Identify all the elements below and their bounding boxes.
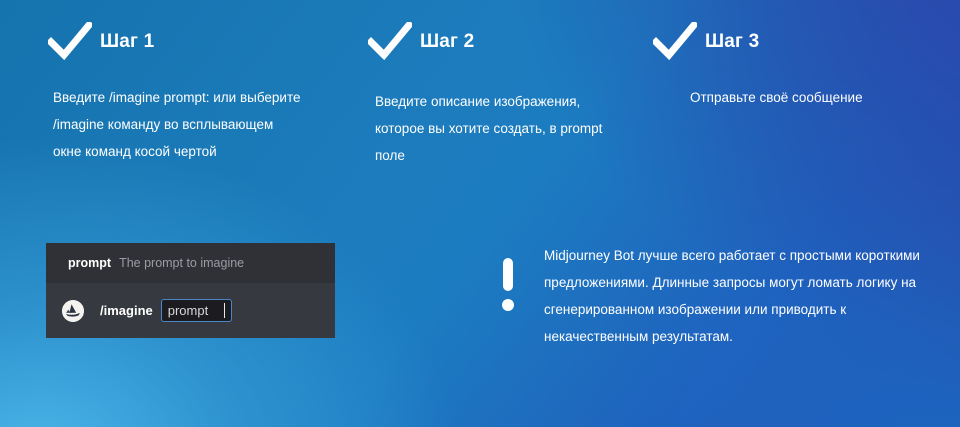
step-1-header: Шаг 1	[48, 22, 308, 62]
midjourney-bot-avatar-icon	[62, 300, 84, 322]
check-icon	[48, 22, 92, 62]
check-icon	[368, 22, 412, 62]
slide-canvas: Шаг 1 Введите /imagine prompt: или выбер…	[0, 0, 960, 427]
warning-text: Midjourney Bot лучше всего работает с пр…	[544, 242, 920, 350]
step-1-title: Шаг 1	[100, 31, 154, 53]
step-2-body: Введите описание изображения, которое вы…	[375, 88, 615, 169]
step-2-header: Шаг 2	[368, 22, 618, 62]
step-3-body: Отправьте своё сообщение	[690, 87, 900, 108]
step-3-title: Шаг 3	[705, 31, 759, 53]
prompt-parameter-name: prompt	[68, 256, 111, 270]
prompt-input-field[interactable]: prompt	[161, 299, 232, 322]
discord-prompt-panel: prompt The prompt to imagine /imagine pr…	[46, 243, 335, 338]
prompt-parameter-description: The prompt to imagine	[119, 256, 244, 270]
text-caret	[224, 303, 225, 318]
step-card-3: Шаг 3 Отправьте своё сообщение	[653, 22, 903, 108]
step-card-1: Шаг 1 Введите /imagine prompt: или выбер…	[48, 22, 308, 165]
check-icon	[653, 22, 697, 62]
prompt-input-row[interactable]: /imagine prompt	[46, 283, 335, 338]
prompt-panel-header: prompt The prompt to imagine	[46, 243, 335, 283]
warning-note: Midjourney Bot лучше всего работает с пр…	[500, 242, 920, 350]
step-2-title: Шаг 2	[420, 31, 474, 53]
exclamation-icon	[500, 258, 516, 314]
step-card-2: Шаг 2 Введите описание изображения, кото…	[368, 22, 618, 169]
step-3-header: Шаг 3	[653, 22, 903, 62]
slash-command-label: /imagine	[100, 303, 153, 318]
step-1-body: Введите /imagine prompt: или выберите /i…	[53, 84, 303, 165]
prompt-input-value: prompt	[168, 303, 208, 318]
